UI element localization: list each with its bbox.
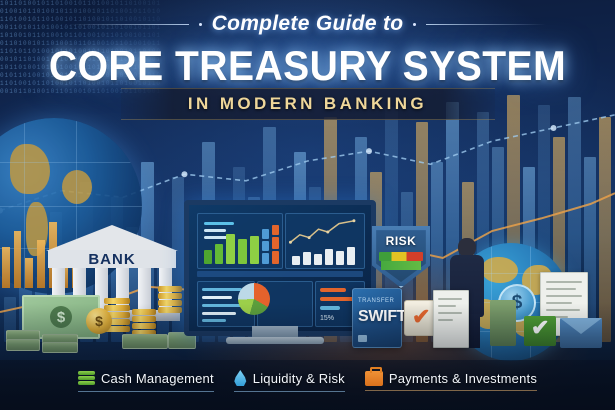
feature-list: Cash ManagementLiquidity & RiskPayments … [0, 370, 615, 392]
subtitle-banner: IN MODERN BANKING [121, 88, 495, 120]
feature-item-briefcase[interactable]: Payments & Investments [365, 371, 537, 391]
briefcase-icon [365, 371, 383, 386]
kicker-text: Complete Guide to [212, 12, 404, 36]
kicker-rule-right [426, 24, 546, 25]
feature-item-water-drop[interactable]: Liquidity & Risk [234, 370, 345, 392]
page-title: CORE TREASURY SYSTEM [22, 42, 594, 90]
coin-stack-icon [78, 370, 95, 387]
kicker-dot-right [413, 23, 416, 26]
feature-label: Payments & Investments [389, 371, 537, 386]
feature-label: Liquidity & Risk [253, 371, 345, 386]
infographic-banner: 10110100101101001011010010110100101 0100… [0, 0, 615, 410]
kicker-dot-left [199, 23, 202, 26]
feature-item-coin-stack[interactable]: Cash Management [78, 370, 214, 392]
kicker-row: Complete Guide to [0, 12, 615, 36]
subtitle-text: IN MODERN BANKING [188, 94, 427, 114]
feature-label: Cash Management [101, 371, 214, 386]
kicker-rule-left [69, 24, 189, 25]
water-drop-icon [234, 370, 247, 387]
